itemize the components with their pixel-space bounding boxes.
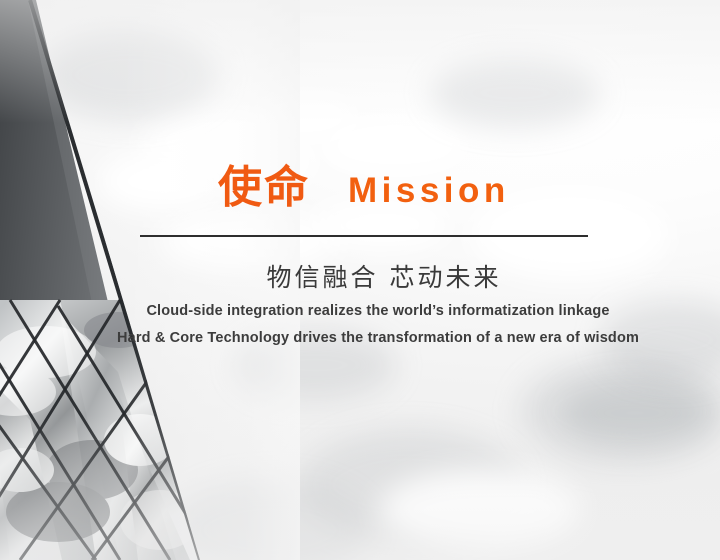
- subtitle-chinese: 物信融合 芯动未来: [0, 258, 720, 294]
- hero-banner: 使命 Mission 物信融合 芯动未来 Cloud-side integrat…: [0, 0, 720, 560]
- tagline-line-2: Hard & Core Technology drives the transf…: [0, 330, 720, 346]
- hero-headline: 使命 Mission: [140, 166, 510, 210]
- headline-english: Mission: [348, 173, 510, 208]
- tagline-line-1: Cloud-side integration realizes the worl…: [0, 303, 720, 319]
- headline-divider: [140, 235, 588, 237]
- headline-chinese: 使命: [218, 166, 310, 210]
